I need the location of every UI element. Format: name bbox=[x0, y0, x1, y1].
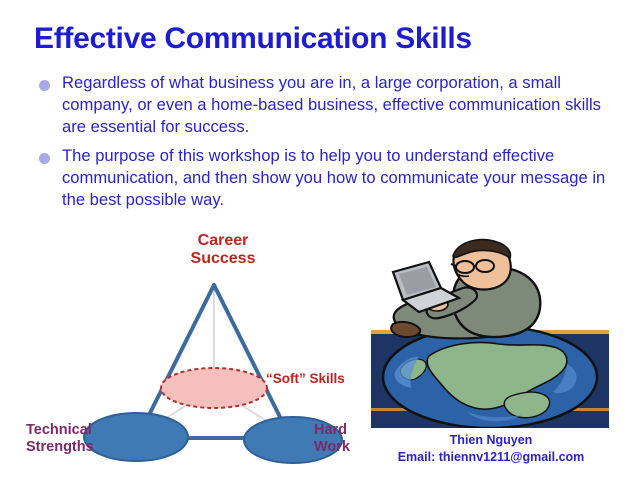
bullet-dot-icon bbox=[39, 153, 50, 164]
illustration-panel bbox=[371, 236, 609, 428]
technical-label-line1: Technical bbox=[26, 422, 94, 439]
hard-work-label-line1: Hard bbox=[314, 422, 350, 439]
soft-skills-ellipse bbox=[161, 368, 267, 408]
diagram-apex-label: Career Success bbox=[163, 232, 283, 268]
bullet-text: Regardless of what business you are in, … bbox=[62, 72, 622, 138]
author-email: Email: thiennv1211@gmail.com bbox=[371, 449, 611, 466]
diagram-soft-skills-label: “Soft” Skills bbox=[266, 371, 345, 386]
bullet-dot-icon bbox=[39, 80, 50, 91]
presentation-slide: Effective Communication Skills Regardles… bbox=[0, 0, 640, 480]
apex-label-line1: Career bbox=[163, 232, 283, 250]
apex-label-line2: Success bbox=[163, 250, 283, 268]
man-figure bbox=[391, 240, 540, 339]
list-item: The purpose of this workshop is to help … bbox=[34, 145, 622, 211]
diagram-technical-strengths-label: Technical Strengths bbox=[26, 422, 94, 456]
author-name: Thien Nguyen bbox=[371, 432, 611, 449]
author-credit: Thien Nguyen Email: thiennv1211@gmail.co… bbox=[371, 432, 611, 466]
globe-icon bbox=[383, 326, 597, 428]
inner-guide-lines bbox=[139, 285, 289, 435]
list-item: Regardless of what business you are in, … bbox=[34, 72, 622, 138]
bullet-text: The purpose of this workshop is to help … bbox=[62, 145, 622, 211]
man-with-laptop-on-globe-graphic bbox=[371, 236, 609, 428]
technical-label-line2: Strengths bbox=[26, 439, 94, 456]
career-success-diagram: Career Success “Soft” Skills Technical S… bbox=[8, 228, 370, 478]
bullet-list: Regardless of what business you are in, … bbox=[34, 72, 622, 218]
page-title: Effective Communication Skills bbox=[34, 24, 614, 54]
hard-work-label-line2: Work bbox=[314, 439, 350, 456]
diagram-hard-work-label: Hard Work bbox=[314, 422, 350, 456]
globe-land-south bbox=[504, 392, 549, 418]
technical-strengths-node bbox=[84, 413, 188, 461]
